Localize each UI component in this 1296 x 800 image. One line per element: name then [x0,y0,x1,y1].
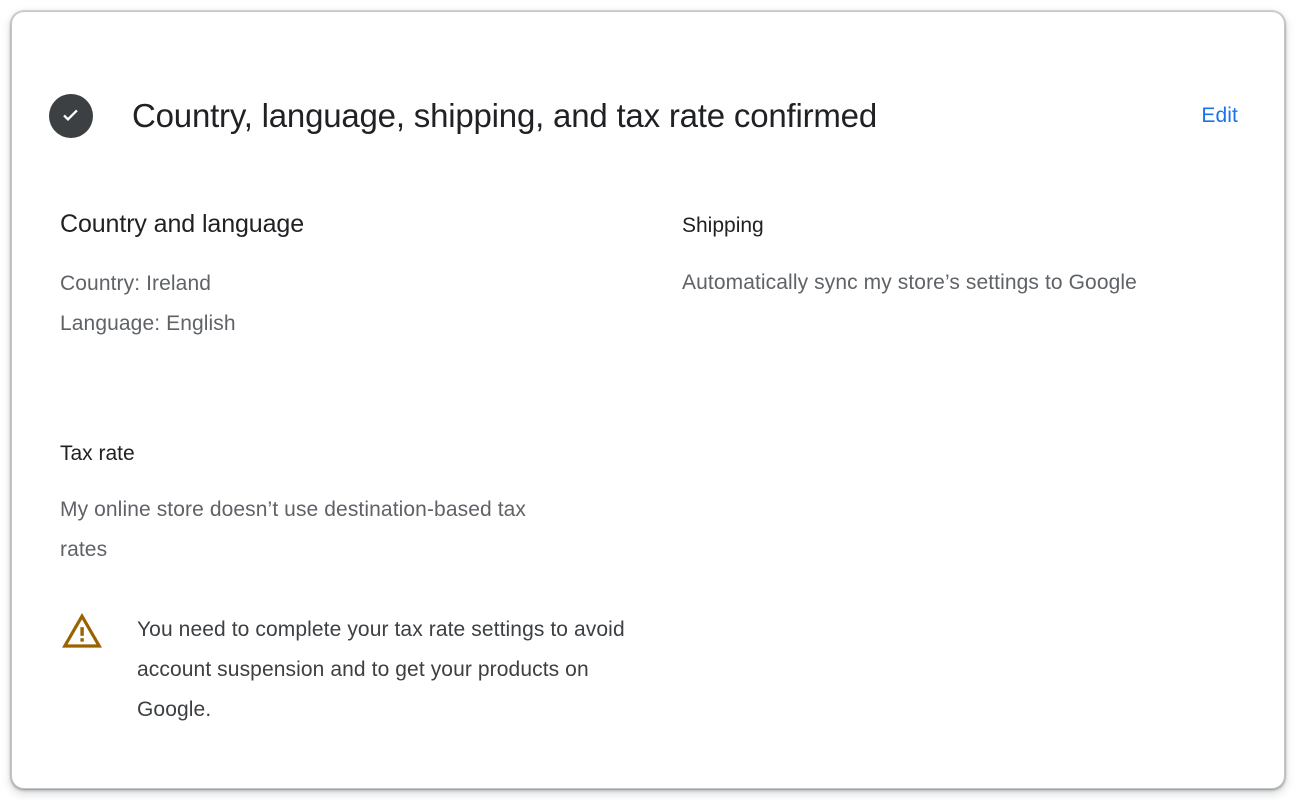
country-value: Country: Ireland [60,264,682,304]
country-language-section: Country and language Country: Ireland La… [60,208,682,344]
shipping-heading: Shipping [682,212,1236,240]
language-value: Language: English [60,304,682,344]
edit-button[interactable]: Edit [1201,102,1247,130]
tax-rate-body: My online store doesn’t use destination-… [60,490,578,570]
country-language-heading: Country and language [60,208,682,240]
shipping-section: Shipping Automatically sync my store’s s… [682,212,1236,303]
status-card: Country, language, shipping, and tax rat… [11,11,1285,789]
right-column: Shipping Automatically sync my store’s s… [682,208,1236,303]
tax-rate-heading: Tax rate [60,440,682,468]
content-columns: Country and language Country: Ireland La… [60,208,1236,730]
card-content: Country and language Country: Ireland La… [60,208,1236,730]
check-circle-filled-icon [49,94,93,138]
tax-rate-warning: You need to complete your tax rate setti… [60,610,682,730]
tax-rate-section: Tax rate My online store doesn’t use des… [60,440,682,730]
shipping-body: Automatically sync my store’s settings t… [682,262,1212,303]
card-header: Country, language, shipping, and tax rat… [49,80,1247,152]
left-column: Country and language Country: Ireland La… [60,208,682,730]
warning-message: You need to complete your tax rate setti… [137,610,627,730]
warning-triangle-icon [60,610,104,653]
page-title: Country, language, shipping, and tax rat… [132,96,1201,136]
